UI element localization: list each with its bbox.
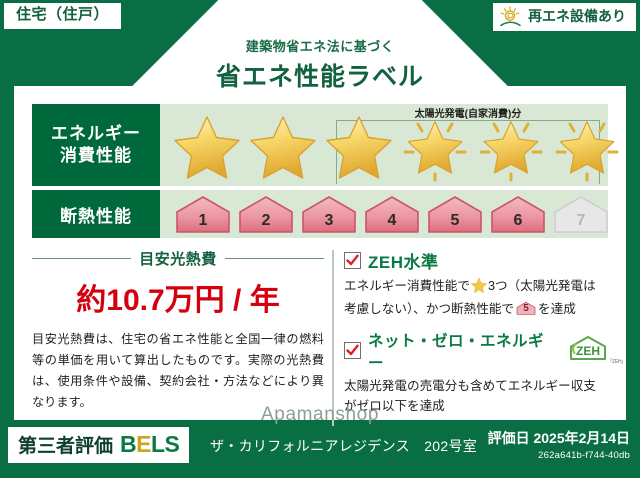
header-subtitle: 建築物省エネ法に基づく xyxy=(0,36,640,55)
zeh-column: ZEH水準 エネルギー消費性能で3つ（太陽光発電は考慮しない）、かつ断熱性能で5… xyxy=(344,248,608,426)
net-zero-energy-body: 太陽光発電の売電分も含めてエネルギー収支がゼロ以下を達成 xyxy=(344,376,608,417)
renewable-energy-badge: 再エネ設備あり xyxy=(493,3,636,31)
insulation-rating-value: 1 2 3 4 xyxy=(160,190,608,238)
inline-house-badge: 5 xyxy=(516,300,536,317)
rule-left xyxy=(32,258,131,259)
header-title: 省エネ性能ラベル xyxy=(0,57,640,93)
star-filled-solar xyxy=(474,108,548,182)
star-filled-solar xyxy=(550,108,624,182)
energy-label-root: 住宅（住戸） 再エネ設備あり 建築物省エネ法に基づく 省エネ性能ラベル xyxy=(0,0,640,478)
house-level-on: 6 xyxy=(489,195,547,235)
star-filled xyxy=(170,108,244,182)
cost-amount: 約10.7万円 / 年 xyxy=(32,275,324,319)
cost-heading-label: 目安光熱費 xyxy=(139,248,217,269)
evaluation-date: 評価日 2025年2月14日 xyxy=(488,428,630,448)
house-level-on: 2 xyxy=(237,195,295,235)
ratings-section: エネルギー 消費性能 太陽光発電(自家消費)分 xyxy=(32,104,608,242)
house-level-number: 5 xyxy=(426,212,484,230)
cost-column: 目安光熱費 約10.7万円 / 年 目安光熱費は、住宅の省エネ性能と全国一律の燃… xyxy=(32,248,332,426)
zeh-logo-icon: ZEH 「ZEH」 xyxy=(568,335,608,366)
star-rating xyxy=(170,108,604,182)
star-filled xyxy=(322,108,396,182)
insulation-scale: 1 2 3 4 xyxy=(174,193,610,235)
house-level-number: 1 xyxy=(174,212,232,230)
sun-icon xyxy=(499,6,523,28)
house-level-off: 7 xyxy=(552,195,610,235)
evaluation-id: 262a641b-f744-40db xyxy=(488,450,630,461)
column-divider xyxy=(332,250,334,426)
label-footer: 第三者評価 BELS ザ・カリフォルニアレジデンス 202号室 評価日 2025… xyxy=(0,420,640,478)
bels-letter-e: E xyxy=(136,431,151,457)
insulation-rating-label: 断熱性能 xyxy=(32,190,160,238)
bels-jp-text: 第三者評価 xyxy=(18,431,113,458)
energy-label-line2: 消費性能 xyxy=(60,145,132,167)
inline-star-icon xyxy=(471,277,487,299)
house-level-on: 3 xyxy=(300,195,358,235)
house-level-on: 1 xyxy=(174,195,232,235)
housing-type-badge: 住宅（住戸） xyxy=(4,3,121,29)
house-level-on: 5 xyxy=(426,195,484,235)
svg-text:ZEH: ZEH xyxy=(576,344,600,358)
house-level-number: 4 xyxy=(363,212,421,230)
cost-note: 目安光熱費は、住宅の省エネ性能と全国一律の燃料等の単価を用いて算出したものです。… xyxy=(32,329,324,413)
house-level-number: 7 xyxy=(552,212,610,230)
renewable-badge-label: 再エネ設備あり xyxy=(528,9,626,24)
zeh-standard-row: ZEH水準 xyxy=(344,248,608,273)
zeh-body-part-c: を達成 xyxy=(538,302,576,316)
energy-rating-label: エネルギー 消費性能 xyxy=(32,104,160,186)
property-name: ザ・カリフォルニアレジデンス 202号室 xyxy=(210,436,477,456)
star-filled-solar xyxy=(398,108,472,182)
rule-right xyxy=(225,258,324,259)
label-card: エネルギー 消費性能 太陽光発電(自家消費)分 xyxy=(14,98,626,420)
bels-letter-b: B xyxy=(120,431,136,457)
check-icon xyxy=(344,252,361,269)
details-section: 目安光熱費 約10.7万円 / 年 目安光熱費は、住宅の省エネ性能と全国一律の燃… xyxy=(32,248,608,426)
house-level-on: 4 xyxy=(363,195,421,235)
house-level-number: 2 xyxy=(237,212,295,230)
net-zero-energy-title: ネット・ゼロ・エネルギー xyxy=(368,329,557,373)
house-level-number: 6 xyxy=(489,212,547,230)
cost-heading: 目安光熱費 xyxy=(32,248,324,269)
zeh-logo-trademark: 「ZEH」 xyxy=(607,358,626,365)
insulation-rating-row: 断熱性能 xyxy=(32,190,608,238)
inline-house-level: 5 xyxy=(516,301,536,317)
zeh-body-part-a: エネルギー消費性能で xyxy=(344,279,470,293)
bels-en-text: BELS xyxy=(120,431,179,458)
energy-label-line1: エネルギー xyxy=(51,123,141,145)
check-icon xyxy=(344,342,361,359)
zeh-standard-title: ZEH水準 xyxy=(368,248,439,273)
energy-rating-value: 太陽光発電(自家消費)分 xyxy=(160,104,608,186)
bels-logo: 第三者評価 BELS xyxy=(8,427,189,463)
label-header: 建築物省エネ法に基づく 省エネ性能ラベル xyxy=(0,36,640,93)
energy-rating-row: エネルギー 消費性能 太陽光発電(自家消費)分 xyxy=(32,104,608,186)
net-zero-energy-row: ネット・ゼロ・エネルギー ZEH 「ZEH」 xyxy=(344,329,608,373)
zeh-standard-body: エネルギー消費性能で3つ（太陽光発電は考慮しない）、かつ断熱性能で5を達成 xyxy=(344,276,608,320)
star-filled xyxy=(246,108,320,182)
house-level-number: 3 xyxy=(300,212,358,230)
bels-letters-ls: LS xyxy=(151,431,179,457)
evaluation-info: 評価日 2025年2月14日 262a641b-f744-40db xyxy=(488,428,630,461)
